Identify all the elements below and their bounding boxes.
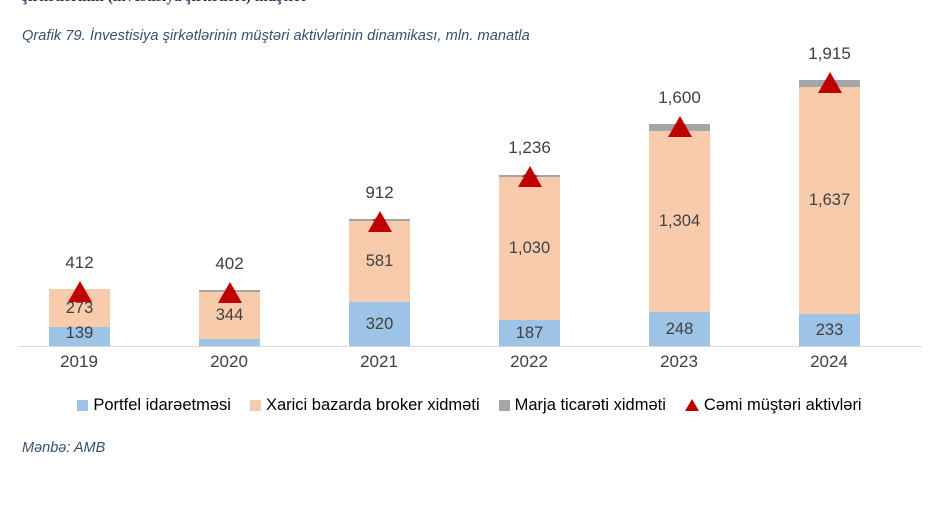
total-marker-triangle-2020[interactable] — [218, 282, 242, 303]
legend-item-broker[interactable]: Xarici bazarda broker xidməti — [250, 396, 480, 415]
marker-overlay: 1,600 — [649, 60, 710, 346]
x-axis-baseline — [18, 346, 922, 347]
chart-legend: Portfel idarəetməsiXarici bazarda broker… — [0, 392, 939, 418]
square-swatch-orange-icon — [250, 400, 261, 411]
bar-group-2020[interactable]: 344402 — [154, 60, 304, 346]
square-swatch-blue-icon — [77, 400, 88, 411]
legend-item-portfolio[interactable]: Portfel idarəetməsi — [77, 396, 231, 415]
legend-label: Marja ticarəti xidməti — [515, 396, 666, 415]
total-marker-triangle-2021[interactable] — [368, 211, 392, 232]
total-value-label-2019: 412 — [65, 253, 93, 273]
bar-group-2019[interactable]: 273139412 — [4, 60, 154, 346]
triangle-marker-red-icon — [685, 399, 699, 411]
x-axis-labels: 201920202021202220232024 — [0, 352, 939, 378]
square-swatch-gray-icon — [499, 400, 510, 411]
legend-label: Cəmi müştəri aktivləri — [704, 396, 862, 415]
clipped-heading-strip: şirkətlərinin (investisiya şirkətləri) m… — [0, 0, 939, 9]
bar-group-2024[interactable]: 1,6372331,915 — [754, 60, 904, 346]
legend-label: Portfel idarəetməsi — [93, 396, 231, 415]
chart-caption: Qrafik 79. İnvestisiya şirkətlərinin müş… — [22, 28, 530, 44]
legend-label: Xarici bazarda broker xidməti — [266, 396, 480, 415]
chart-plot-area: 27313941234440211581320912191,0301871,23… — [0, 60, 939, 350]
total-value-label-2020: 402 — [215, 254, 243, 274]
source-note: Mənbə: AMB — [22, 440, 105, 456]
total-value-label-2022: 1,236 — [508, 138, 551, 158]
bar-group-2021[interactable]: 11581320912 — [304, 60, 454, 346]
x-axis-tick-2021: 2021 — [304, 352, 454, 372]
marker-overlay: 912 — [349, 60, 410, 346]
total-marker-triangle-2022[interactable] — [518, 166, 542, 187]
legend-item-total[interactable]: Cəmi müştəri aktivləri — [685, 396, 862, 415]
total-value-label-2021: 912 — [365, 183, 393, 203]
legend-item-margin[interactable]: Marja ticarəti xidməti — [499, 396, 666, 415]
bar-group-2023[interactable]: 1,3042481,600 — [604, 60, 754, 346]
marker-overlay: 1,236 — [499, 60, 560, 346]
bar-group-2022[interactable]: 191,0301871,236 — [454, 60, 604, 346]
total-value-label-2023: 1,600 — [658, 88, 701, 108]
marker-overlay: 1,915 — [799, 60, 860, 346]
x-axis-tick-2019: 2019 — [4, 352, 154, 372]
total-value-label-2024: 1,915 — [808, 44, 851, 64]
total-marker-triangle-2023[interactable] — [668, 116, 692, 137]
clipped-heading-text: şirkətlərinin (investisiya şirkətləri) m… — [0, 0, 939, 7]
marker-overlay: 412 — [49, 60, 110, 346]
total-marker-triangle-2024[interactable] — [818, 72, 842, 93]
x-axis-tick-2024: 2024 — [754, 352, 904, 372]
x-axis-tick-2023: 2023 — [604, 352, 754, 372]
x-axis-tick-2020: 2020 — [154, 352, 304, 372]
total-marker-triangle-2019[interactable] — [68, 281, 92, 302]
marker-overlay: 402 — [199, 60, 260, 346]
x-axis-tick-2022: 2022 — [454, 352, 604, 372]
